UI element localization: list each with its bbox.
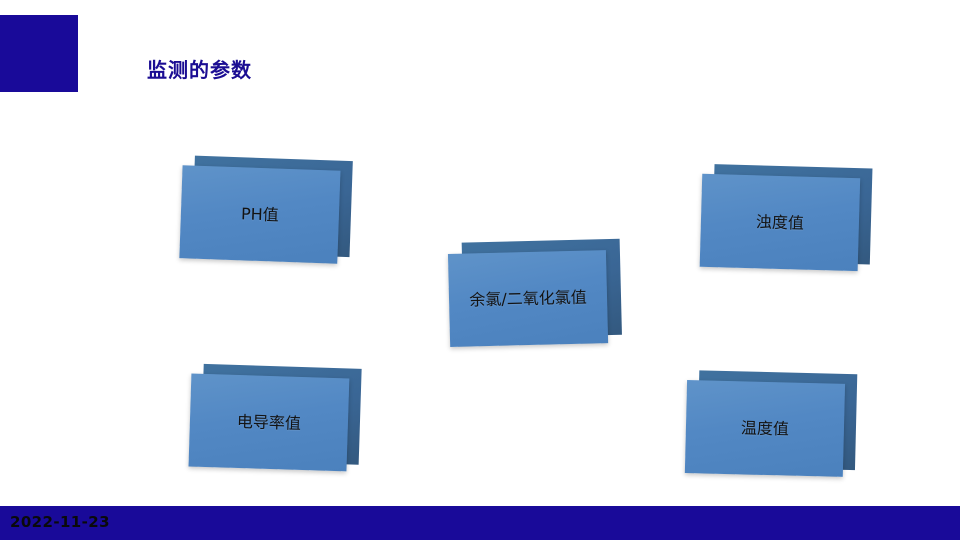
footer-date: 2022-11-23 [10, 513, 110, 531]
parameter-card-turbidity[interactable]: 浊度值 [700, 170, 863, 270]
corner-accent-block [0, 15, 78, 92]
card-label: PH值 [231, 203, 289, 227]
footer-bar: 2022-11-23 [0, 506, 960, 540]
parameter-card-temperature[interactable]: 温度值 [685, 376, 847, 476]
card-label: 电导率值 [227, 410, 312, 434]
card-front-layer[interactable]: 温度值 [685, 380, 845, 477]
card-front-layer[interactable]: PH值 [179, 165, 340, 263]
slide-canvas: 监测的参数 PH值 浊度值 余氯/二氧化氯值 电导率值 温度值 2022-11-… [0, 0, 960, 540]
parameter-card-ph[interactable]: PH值 [179, 161, 342, 263]
card-front-layer[interactable]: 余氯/二氧化氯值 [448, 250, 608, 347]
parameter-card-conductivity[interactable]: 电导率值 [189, 370, 352, 471]
card-front-layer[interactable]: 电导率值 [189, 374, 350, 472]
card-front-layer[interactable]: 浊度值 [700, 174, 861, 271]
card-label: 温度值 [731, 417, 800, 440]
page-title: 监测的参数 [147, 54, 252, 83]
parameter-card-residual-chlorine[interactable]: 余氯/二氧化氯值 [448, 247, 610, 347]
card-label: 浊度值 [746, 211, 815, 234]
card-label: 余氯/二氧化氯值 [459, 286, 597, 311]
